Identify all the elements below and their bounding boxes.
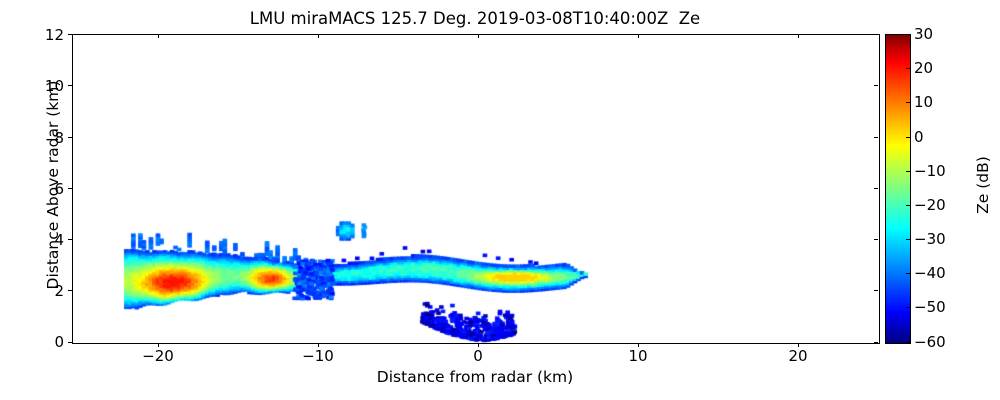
ytick-mark-right-1 xyxy=(874,290,878,291)
cbtick-label-4: −20 xyxy=(914,196,968,214)
x-axis-label: Distance from radar (km) xyxy=(72,368,878,386)
cbtick-mark-2 xyxy=(906,273,910,274)
cbtick-mark-4 xyxy=(906,205,910,206)
cbtick-label-3: −30 xyxy=(914,230,968,248)
ytick-mark-right-4 xyxy=(874,137,878,138)
cbtick-mark-6 xyxy=(906,137,910,138)
xtick-label-4: 20 xyxy=(768,347,828,365)
ytick-mark-0 xyxy=(68,342,72,343)
cbtick-label-1: −50 xyxy=(914,298,968,316)
xtick-mark-top-2 xyxy=(478,34,479,38)
xtick-mark-top-3 xyxy=(638,34,639,38)
cbtick-label-0: −60 xyxy=(914,333,968,351)
cbtick-mark-1 xyxy=(906,307,910,308)
ytick-mark-4 xyxy=(68,137,72,138)
cbtick-mark-9 xyxy=(906,34,910,35)
xtick-label-0: −20 xyxy=(128,347,188,365)
xtick-label-2: 0 xyxy=(448,347,508,365)
ytick-mark-2 xyxy=(68,239,72,240)
xtick-mark-top-1 xyxy=(318,34,319,38)
page-title: LMU miraMACS 125.7 Deg. 2019-03-08T10:40… xyxy=(0,9,950,28)
cbtick-label-8: 20 xyxy=(914,59,968,77)
cbtick-label-7: 10 xyxy=(914,93,968,111)
cbtick-mark-5 xyxy=(906,171,910,172)
cbtick-label-9: 30 xyxy=(914,25,968,43)
colorbar xyxy=(885,34,911,344)
cbtick-mark-8 xyxy=(906,68,910,69)
xtick-label-1: −10 xyxy=(288,347,348,365)
plot-area xyxy=(72,34,880,344)
cbtick-label-6: 0 xyxy=(914,128,968,146)
ytick-mark-right-0 xyxy=(874,342,878,343)
cbtick-mark-3 xyxy=(906,239,910,240)
xtick-label-3: 10 xyxy=(608,347,668,365)
cbtick-mark-7 xyxy=(906,102,910,103)
ytick-mark-1 xyxy=(68,290,72,291)
ytick-mark-3 xyxy=(68,188,72,189)
colorbar-label: Ze (dB) xyxy=(974,30,992,340)
ytick-mark-6 xyxy=(68,34,72,35)
xtick-mark-top-0 xyxy=(158,34,159,38)
xtick-mark-top-4 xyxy=(798,34,799,38)
cbtick-mark-0 xyxy=(906,342,910,343)
cbtick-label-5: −10 xyxy=(914,162,968,180)
ytick-mark-right-6 xyxy=(874,34,878,35)
ytick-mark-right-3 xyxy=(874,188,878,189)
reflectivity-heatmap-canvas xyxy=(73,35,879,343)
ytick-mark-5 xyxy=(68,85,72,86)
ytick-mark-right-5 xyxy=(874,85,878,86)
colorbar-gradient xyxy=(886,35,910,343)
radar-reflectivity-figure: LMU miraMACS 125.7 Deg. 2019-03-08T10:40… xyxy=(0,0,1000,400)
y-axis-label: Distance Above radar (km) xyxy=(44,30,62,340)
cbtick-label-2: −40 xyxy=(914,264,968,282)
ytick-mark-right-2 xyxy=(874,239,878,240)
